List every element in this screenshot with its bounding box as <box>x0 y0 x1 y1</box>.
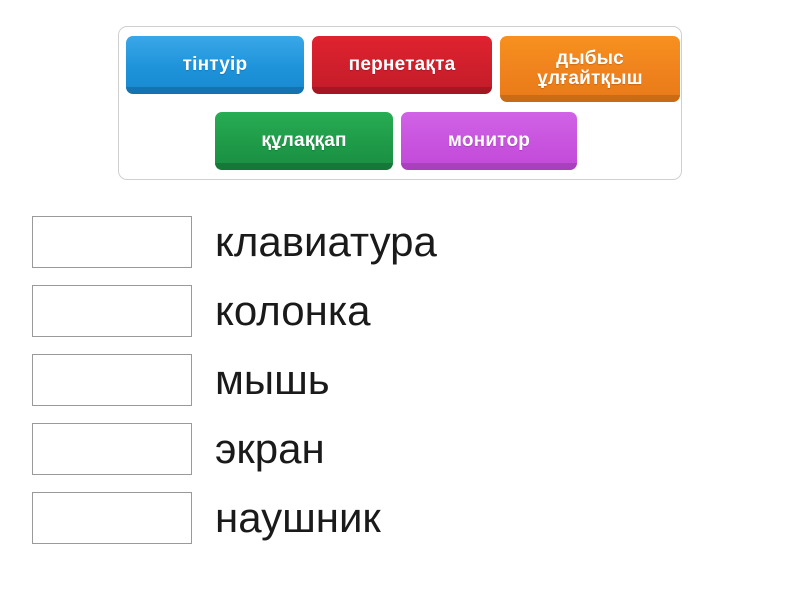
answer-label-naushnik: наушник <box>215 497 381 539</box>
drop-target-kolonka[interactable] <box>32 285 192 337</box>
answer-row: наушник <box>32 490 772 545</box>
tile-bank: тінтуір пернетақта дыбыс ұлғайтқыш құлақ… <box>118 26 682 180</box>
tile-bank-row-1: тінтуір пернетақта дыбыс ұлғайтқыш <box>126 36 688 102</box>
drop-target-ekran[interactable] <box>32 423 192 475</box>
drop-target-klaviatura[interactable] <box>32 216 192 268</box>
answer-row: колонка <box>32 283 772 338</box>
answer-label-kolonka: колонка <box>215 290 370 332</box>
answer-label-ekran: экран <box>215 428 325 470</box>
exercise-page: тінтуір пернетақта дыбыс ұлғайтқыш құлақ… <box>0 0 800 600</box>
answer-label-klaviatura: клавиатура <box>215 221 437 263</box>
draggable-tile-dybys-ulgaitqysh[interactable]: дыбыс ұлғайтқыш <box>500 36 680 102</box>
tile-bank-row-2: құлаққап монитор <box>215 112 585 170</box>
draggable-tile-qulaqqap[interactable]: құлаққап <box>215 112 393 170</box>
answer-label-mysh: мышь <box>215 359 330 401</box>
drop-target-naushnik[interactable] <box>32 492 192 544</box>
answer-row: клавиатура <box>32 214 772 269</box>
draggable-tile-tintuir[interactable]: тінтуір <box>126 36 304 94</box>
draggable-tile-pernetaqta[interactable]: пернетақта <box>312 36 492 94</box>
answer-row: экран <box>32 421 772 476</box>
answer-list: клавиатура колонка мышь экран наушник <box>32 214 772 559</box>
draggable-tile-monitor[interactable]: монитор <box>401 112 577 170</box>
drop-target-mysh[interactable] <box>32 354 192 406</box>
answer-row: мышь <box>32 352 772 407</box>
